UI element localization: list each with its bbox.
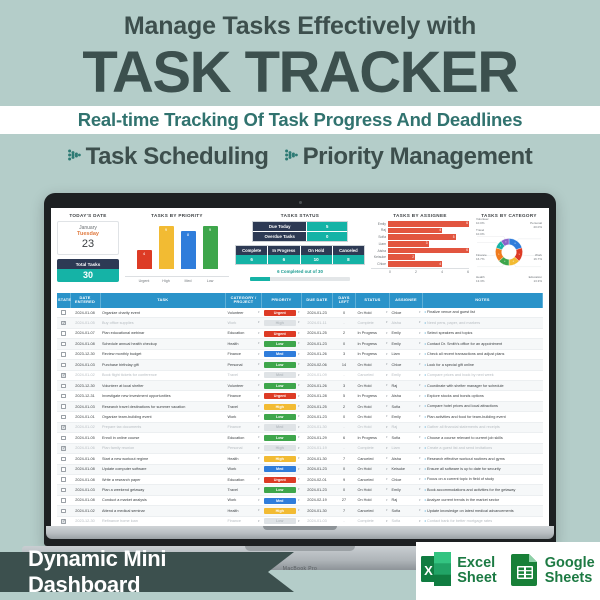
cell-assignee[interactable]: Liam▾: [390, 349, 423, 359]
cell-status[interactable]: On Hold▾: [356, 422, 390, 432]
cell-state[interactable]: [57, 506, 70, 516]
table-header-cell[interactable]: NOTES: [423, 293, 543, 308]
cell-status[interactable]: Canceled▾: [356, 474, 390, 484]
cell-status[interactable]: In Progress▾: [356, 339, 390, 349]
state-checkbox[interactable]: [61, 321, 66, 326]
table-header-cell[interactable]: STATE: [57, 293, 70, 308]
cell-assignee[interactable]: Emily▾: [390, 339, 423, 349]
cell-status[interactable]: On Hold▾: [356, 308, 390, 318]
cell-priority[interactable]: Low▾: [262, 516, 302, 526]
cell-status[interactable]: Complete▾: [356, 516, 390, 526]
cell-assignee[interactable]: Sofia▾: [390, 516, 423, 526]
category-label: Finance16.7%: [476, 254, 487, 262]
cell-category[interactable]: Finance▾: [226, 391, 262, 401]
state-checkbox[interactable]: [61, 331, 66, 336]
cell-status[interactable]: In Progress▾: [356, 433, 390, 443]
panel-tasks-status: TASKS STATUS Due Today 5 Overdue Tasks 0: [235, 213, 365, 289]
chevron-down-icon[interactable]: ▾: [386, 509, 388, 512]
state-checkbox[interactable]: [61, 467, 66, 472]
cell-category[interactable]: Education▾: [226, 474, 262, 484]
table-row[interactable]: 2024-01-02Attend a medical seminarHealth…: [57, 506, 543, 516]
cell-status[interactable]: On Hold▾: [356, 360, 390, 370]
cell-category[interactable]: Health▾: [226, 454, 262, 464]
cell-category[interactable]: Travel▾: [226, 485, 262, 495]
assignee-bar-label: Liam: [372, 242, 388, 246]
cell-assignee[interactable]: Aisha▾: [390, 391, 423, 401]
cell-state[interactable]: [57, 328, 70, 338]
chevron-down-icon[interactable]: ▾: [419, 520, 421, 523]
cell-state[interactable]: [57, 308, 70, 318]
table-row[interactable]: 2024-01-06Start a new workout regimeHeal…: [57, 454, 543, 464]
cell-status[interactable]: Canceled▾: [356, 454, 390, 464]
chevron-down-icon[interactable]: ▾: [298, 363, 300, 366]
cell-notes: • Focus on a current topic in field of s…: [423, 474, 543, 484]
cell-priority[interactable]: Low▾: [262, 381, 302, 391]
cell-state[interactable]: [57, 516, 70, 526]
chevron-down-icon[interactable]: ▾: [258, 509, 260, 512]
chevron-down-icon[interactable]: ▾: [419, 509, 421, 512]
chevron-down-icon[interactable]: ▾: [419, 426, 421, 429]
cell-state[interactable]: [57, 391, 70, 401]
cell-category[interactable]: Volunteer▾: [226, 381, 262, 391]
panel-tasks-by-priority: TASKS BY PRIORITY 4989 UrgentHighMedLow: [125, 213, 229, 289]
chevron-down-icon[interactable]: ▾: [419, 321, 421, 324]
chevron-down-icon[interactable]: ▾: [258, 447, 260, 450]
table-row[interactable]: 2024-01-05Buy office suppliesWork▾High▾2…: [57, 318, 543, 328]
chevron-down-icon[interactable]: ▾: [298, 384, 300, 387]
chevron-down-icon[interactable]: ▾: [298, 405, 300, 408]
chevron-down-icon[interactable]: ▾: [298, 353, 300, 356]
cell-state[interactable]: [57, 370, 70, 380]
cell-status[interactable]: Canceled▾: [356, 506, 390, 516]
priority-badge: High: [264, 404, 296, 410]
table-row[interactable]: 2024-01-08Update computer softwareWork▾M…: [57, 464, 543, 474]
state-checkbox[interactable]: [61, 373, 66, 378]
state-checkbox[interactable]: [61, 363, 66, 368]
cell-priority[interactable]: Low▾: [262, 339, 302, 349]
chevron-down-icon[interactable]: ▾: [298, 395, 300, 398]
table-header-cell[interactable]: STATUS: [356, 293, 390, 308]
cell-priority[interactable]: Urgent▾: [262, 391, 302, 401]
cell-priority[interactable]: Low▾: [262, 412, 302, 422]
table-header-cell[interactable]: ASSIGNEE: [390, 293, 423, 308]
chevron-down-icon[interactable]: ▾: [386, 384, 388, 387]
category-value: Health: [228, 457, 239, 461]
cell-assignee[interactable]: Emily▾: [390, 328, 423, 338]
chevron-down-icon[interactable]: ▾: [298, 478, 300, 481]
state-checkbox[interactable]: [61, 394, 66, 399]
cell-state[interactable]: [57, 422, 70, 432]
chevron-down-icon[interactable]: ▾: [258, 499, 260, 502]
table-header-cell[interactable]: PRIORITY: [262, 293, 302, 308]
cell-due-date: 2024-01-26: [302, 381, 333, 391]
cell-assignee[interactable]: Sofia▾: [390, 401, 423, 411]
state-checkbox[interactable]: [61, 436, 66, 441]
cell-priority[interactable]: Urgent▾: [262, 308, 302, 318]
table-row[interactable]: 2024-01-05Enroll in online courseEducati…: [57, 433, 543, 443]
table-header-cell[interactable]: TASK: [100, 293, 226, 308]
status-value: In Progress: [358, 342, 377, 346]
bullet-icon: •: [425, 466, 426, 471]
chevron-down-icon[interactable]: ▾: [298, 311, 300, 314]
chevron-down-icon[interactable]: ▾: [386, 457, 388, 460]
cell-priority[interactable]: High▾: [262, 318, 302, 328]
cell-date-entered: 2024-01-06: [70, 454, 100, 464]
chevron-down-icon[interactable]: ▾: [386, 311, 388, 314]
chevron-down-icon[interactable]: ▾: [386, 468, 388, 471]
cell-priority[interactable]: Urgent▾: [262, 328, 302, 338]
cell-state[interactable]: [57, 485, 70, 495]
cell-category[interactable]: Work▾: [226, 318, 262, 328]
state-checkbox[interactable]: [61, 352, 66, 357]
assignee-bar-value: 2: [412, 255, 414, 259]
cell-category[interactable]: Work▾: [226, 412, 262, 422]
chevron-down-icon[interactable]: ▾: [298, 468, 300, 471]
chevron-down-icon[interactable]: ▾: [258, 363, 260, 366]
state-checkbox[interactable]: [61, 519, 66, 524]
cell-assignee[interactable]: Emily▾: [390, 370, 423, 380]
date-card: January Tuesday 23: [57, 221, 119, 255]
state-checkbox[interactable]: [61, 509, 66, 514]
chevron-down-icon[interactable]: ▾: [386, 342, 388, 345]
chevron-down-icon[interactable]: ▾: [258, 332, 260, 335]
cell-status[interactable]: On Hold▾: [356, 412, 390, 422]
chevron-down-icon[interactable]: ▾: [386, 363, 388, 366]
table-row[interactable]: 2024-01-03Purchase birthday giftPersonal…: [57, 360, 543, 370]
state-checkbox[interactable]: [61, 477, 66, 482]
table-row[interactable]: 2024-01-08Conduct a market analysisWork▾…: [57, 495, 543, 505]
cell-days-left: 9: [333, 474, 356, 484]
chevron-down-icon[interactable]: ▾: [419, 395, 421, 398]
cell-due-date: 2024-01-25: [302, 328, 333, 338]
state-checkbox[interactable]: [61, 384, 66, 389]
table-header-cell[interactable]: DATE ENTERED: [70, 293, 100, 308]
cell-days-left: 7: [333, 454, 356, 464]
cell-assignee[interactable]: Sofia▾: [390, 506, 423, 516]
chevron-down-icon[interactable]: ▾: [386, 405, 388, 408]
category-label: Travel10.0%: [476, 229, 485, 237]
chevron-down-icon[interactable]: ▾: [258, 426, 260, 429]
chevron-down-icon[interactable]: ▾: [419, 415, 421, 418]
laptop-lid: TODAY'S DATE January Tuesday 23 Total Ta…: [44, 193, 556, 546]
chevron-down-icon[interactable]: ▾: [419, 311, 421, 314]
cell-priority[interactable]: High▾: [262, 506, 302, 516]
chevron-down-icon[interactable]: ▾: [298, 426, 300, 429]
cell-priority[interactable]: Med▾: [262, 422, 302, 432]
priority-badge: Med: [264, 424, 296, 430]
chevron-down-icon[interactable]: ▾: [419, 468, 421, 471]
cell-state[interactable]: [57, 443, 70, 453]
cell-state[interactable]: [57, 381, 70, 391]
cell-priority[interactable]: Low▾: [262, 360, 302, 370]
cell-assignee[interactable]: Chloe▾: [390, 308, 423, 318]
chevron-down-icon[interactable]: ▾: [258, 321, 260, 324]
chevron-down-icon[interactable]: ▾: [298, 332, 300, 335]
state-checkbox[interactable]: [61, 498, 66, 503]
cell-assignee[interactable]: Aisha▾: [390, 318, 423, 328]
chevron-down-icon[interactable]: ▾: [419, 353, 421, 356]
table-row[interactable]: 2023-12-30Volunteer at local shelterVolu…: [57, 381, 543, 391]
table-header-cell[interactable]: DUE DATE: [302, 293, 333, 308]
cell-priority[interactable]: Low▾: [262, 433, 302, 443]
state-checkbox[interactable]: [61, 415, 66, 420]
cell-category[interactable]: Health▾: [226, 339, 262, 349]
chevron-down-icon[interactable]: ▾: [419, 384, 421, 387]
table-row[interactable]: 2024-01-06Plan family reunionPersonal▾Hi…: [57, 443, 543, 453]
chevron-down-icon[interactable]: ▾: [419, 488, 421, 491]
chevron-down-icon[interactable]: ▾: [298, 447, 300, 450]
assignee-value: Raj: [392, 425, 398, 429]
cell-state[interactable]: [57, 339, 70, 349]
cell-category[interactable]: Work▾: [226, 495, 262, 505]
cell-assignee[interactable]: Aisha▾: [390, 454, 423, 464]
cell-task: Volunteer at local shelter: [100, 381, 226, 391]
chevron-down-icon[interactable]: ▾: [298, 321, 300, 324]
cell-days-left: 0: [333, 464, 356, 474]
cell-due-date: 2024-01-23: [302, 308, 333, 318]
cell-days-left: 2: [333, 401, 356, 411]
cell-category[interactable]: Travel▾: [226, 370, 262, 380]
cell-status[interactable]: In Progress▾: [356, 391, 390, 401]
cell-priority[interactable]: High▾: [262, 454, 302, 464]
cell-assignee[interactable]: Sofia▾: [390, 433, 423, 443]
cell-state[interactable]: [57, 318, 70, 328]
chevron-down-icon[interactable]: ▾: [258, 353, 260, 356]
cell-category[interactable]: Finance▾: [226, 422, 262, 432]
chevron-down-icon[interactable]: ▾: [258, 520, 260, 523]
bullet-icon: •: [425, 435, 426, 440]
cell-state[interactable]: [57, 412, 70, 422]
cell-state[interactable]: [57, 464, 70, 474]
chevron-down-icon[interactable]: ▾: [386, 332, 388, 335]
chevron-down-icon[interactable]: ▾: [298, 342, 300, 345]
bullet-icon: •: [425, 351, 426, 356]
chevron-down-icon[interactable]: ▾: [419, 363, 421, 366]
chevron-down-icon[interactable]: ▾: [419, 405, 421, 408]
table-row[interactable]: 2023-12-31Investigate new investment opp…: [57, 391, 543, 401]
cell-assignee[interactable]: Raj▾: [390, 422, 423, 432]
chevron-down-icon[interactable]: ▾: [258, 395, 260, 398]
state-checkbox[interactable]: [61, 404, 66, 409]
chevron-down-icon[interactable]: ▾: [386, 447, 388, 450]
table-row[interactable]: 2024-01-02Prepare tax documentsFinance▾M…: [57, 422, 543, 432]
chevron-down-icon[interactable]: ▾: [386, 415, 388, 418]
chevron-down-icon[interactable]: ▾: [386, 426, 388, 429]
cell-category[interactable]: Education▾: [226, 328, 262, 338]
assignee-bar-row: Raj4: [372, 228, 469, 234]
assignee-value: Sofia: [392, 519, 401, 523]
state-checkbox[interactable]: [61, 342, 66, 347]
chevron-down-icon[interactable]: ▾: [258, 457, 260, 460]
chevron-down-icon[interactable]: ▾: [419, 332, 421, 335]
assignee-value: Raj: [392, 384, 398, 388]
table-row[interactable]: 2024-01-01Organize team-building eventWo…: [57, 412, 543, 422]
state-checkbox[interactable]: [61, 425, 66, 430]
chevron-down-icon[interactable]: ▾: [298, 520, 300, 523]
chevron-down-icon[interactable]: ▾: [386, 478, 388, 481]
table-row[interactable]: 2024-01-02Book flight tickets for confer…: [57, 370, 543, 380]
chevron-down-icon[interactable]: ▾: [298, 509, 300, 512]
cell-state[interactable]: [57, 401, 70, 411]
cell-category[interactable]: Volunteer▾: [226, 308, 262, 318]
feature-label: Task Scheduling: [86, 143, 269, 171]
cell-status[interactable]: In Progress▾: [356, 349, 390, 359]
cell-status[interactable]: On Hold▾: [356, 401, 390, 411]
cell-priority[interactable]: Urgent▾: [262, 474, 302, 484]
chevron-down-icon[interactable]: ▾: [386, 436, 388, 439]
dashboard-panels: TODAY'S DATE January Tuesday 23 Total Ta…: [57, 213, 543, 289]
assignee-value: Emily: [392, 488, 401, 492]
cell-due-date: 2024-02-01: [302, 474, 333, 484]
cell-notes: • Update knowledge on latest medical adv…: [423, 506, 543, 516]
cell-assignee[interactable]: Raj▾: [390, 381, 423, 391]
table-header-cell[interactable]: CATEGORY / PROJECT: [226, 293, 262, 308]
chevron-down-icon[interactable]: ▾: [386, 374, 388, 377]
cell-status[interactable]: On Hold▾: [356, 464, 390, 474]
state-checkbox[interactable]: [61, 310, 66, 315]
bullet-icon: •: [425, 508, 426, 513]
cell-status[interactable]: Canceled▾: [356, 370, 390, 380]
cell-category[interactable]: Finance▾: [226, 349, 262, 359]
cell-category[interactable]: Personal▾: [226, 443, 262, 453]
chevron-down-icon[interactable]: ▾: [386, 499, 388, 502]
panel-title-tasks-by-assignee: TASKS BY ASSIGNEE: [371, 213, 469, 218]
assignee-bar: 2: [388, 254, 415, 260]
cell-task: Review monthly budget: [100, 349, 226, 359]
table-header-cell[interactable]: DAYS LEFT: [333, 293, 356, 308]
table-row[interactable]: 2024-01-03Plan a weekend getawayTravel▾L…: [57, 485, 543, 495]
cell-task: Prepare tax documents: [100, 422, 226, 432]
state-checkbox[interactable]: [61, 457, 66, 462]
cell-state[interactable]: [57, 454, 70, 464]
chevron-down-icon[interactable]: ▾: [419, 342, 421, 345]
chevron-down-icon[interactable]: ▾: [258, 384, 260, 387]
chevron-down-icon[interactable]: ▾: [386, 353, 388, 356]
laptop-mockup: TODAY'S DATE January Tuesday 23 Total Ta…: [44, 193, 556, 570]
assignee-axis-tick: 2: [415, 270, 417, 274]
category-value: Education: [228, 331, 245, 335]
cell-task: Plan educational webinar: [100, 328, 226, 338]
chevron-down-icon[interactable]: ▾: [386, 520, 388, 523]
chevron-down-icon[interactable]: ▾: [419, 478, 421, 481]
cell-assignee[interactable]: Keisuke▾: [390, 464, 423, 474]
cell-status[interactable]: On Hold▾: [356, 485, 390, 495]
table-row[interactable]: 2024-01-08Write a research paperEducatio…: [57, 474, 543, 484]
table-row[interactable]: 2023-12-30Refinance home loanFinance▾Low…: [57, 516, 543, 526]
priority-bar: 4: [137, 221, 152, 269]
chevron-down-icon[interactable]: ▾: [419, 436, 421, 439]
cell-category[interactable]: Work▾: [226, 464, 262, 474]
cell-category[interactable]: Education▾: [226, 433, 262, 443]
cell-category[interactable]: Personal▾: [226, 360, 262, 370]
cell-due-date: 2024-01-23: [302, 464, 333, 474]
cell-category[interactable]: Finance▾: [226, 516, 262, 526]
cell-state[interactable]: [57, 360, 70, 370]
assignee-value: Emily: [392, 331, 401, 335]
chevron-down-icon[interactable]: ▾: [386, 321, 388, 324]
cell-assignee[interactable]: Chloe▾: [390, 474, 423, 484]
cell-state[interactable]: [57, 495, 70, 505]
table-row[interactable]: 2024-01-03Research travel destinations f…: [57, 401, 543, 411]
cell-status[interactable]: In Progress▾: [356, 328, 390, 338]
chevron-down-icon[interactable]: ▾: [386, 395, 388, 398]
cell-days-left: 0: [333, 412, 356, 422]
cell-priority[interactable]: Med▾: [262, 464, 302, 474]
cell-state[interactable]: [57, 349, 70, 359]
state-checkbox[interactable]: [61, 488, 66, 493]
cell-assignee[interactable]: Emily▾: [390, 412, 423, 422]
cell-status[interactable]: Complete▾: [356, 443, 390, 453]
cell-priority[interactable]: Low▾: [262, 485, 302, 495]
cell-assignee[interactable]: Raj▾: [390, 495, 423, 505]
chevron-down-icon[interactable]: ▾: [298, 488, 300, 491]
chevron-down-icon[interactable]: ▾: [258, 311, 260, 314]
chevron-down-icon[interactable]: ▾: [258, 405, 260, 408]
chevron-down-icon[interactable]: ▾: [298, 374, 300, 377]
cell-assignee[interactable]: Liam▾: [390, 443, 423, 453]
chevron-down-icon[interactable]: ▾: [386, 488, 388, 491]
assignee-axis-tick: 4: [441, 270, 443, 274]
chevron-down-icon[interactable]: ▾: [298, 415, 300, 418]
table-row[interactable]: 2024-01-07Plan educational webinarEducat…: [57, 328, 543, 338]
cell-date-entered: 2024-01-07: [70, 328, 100, 338]
panel-tasks-by-category: TASKS BY CATEGORY 6544533 Personal20.0%W…: [475, 213, 543, 289]
chevron-down-icon[interactable]: ▾: [258, 342, 260, 345]
cell-priority[interactable]: High▾: [262, 443, 302, 453]
cell-priority[interactable]: Med▾: [262, 495, 302, 505]
cell-assignee[interactable]: Chloe▾: [390, 360, 423, 370]
cell-status[interactable]: Complete▾: [356, 318, 390, 328]
chevron-down-icon[interactable]: ▾: [258, 436, 260, 439]
chevron-down-icon[interactable]: ▾: [258, 488, 260, 491]
priority-badge: Med: [264, 372, 296, 378]
chevron-down-icon[interactable]: ▾: [298, 436, 300, 439]
cell-priority[interactable]: Med▾: [262, 349, 302, 359]
cell-state[interactable]: [57, 433, 70, 443]
priority-bar: 9: [203, 221, 218, 269]
table-row[interactable]: 2023-12-30Review monthly budgetFinance▾M…: [57, 349, 543, 359]
chevron-down-icon[interactable]: ▾: [258, 468, 260, 471]
hero-subtitle-band: Real-time Tracking Of Task Progress And …: [0, 106, 600, 134]
chevron-down-icon[interactable]: ▾: [419, 499, 421, 502]
table-row[interactable]: 2024-01-08Organize charity eventVoluntee…: [57, 308, 543, 318]
cell-priority[interactable]: Med▾: [262, 370, 302, 380]
cell-priority[interactable]: High▾: [262, 401, 302, 411]
chevron-down-icon[interactable]: ▾: [298, 499, 300, 502]
chevron-down-icon[interactable]: ▾: [258, 374, 260, 377]
chevron-down-icon[interactable]: ▾: [419, 447, 421, 450]
cell-assignee[interactable]: Emily▾: [390, 485, 423, 495]
cell-status[interactable]: On Hold▾: [356, 495, 390, 505]
table-row[interactable]: 2024-01-08Schedule annual health checkup…: [57, 339, 543, 349]
cell-status[interactable]: On Hold▾: [356, 381, 390, 391]
status-column: Complete6: [236, 246, 268, 264]
chevron-down-icon[interactable]: ▾: [419, 374, 421, 377]
chevron-down-icon[interactable]: ▾: [419, 457, 421, 460]
chevron-down-icon[interactable]: ▾: [258, 415, 260, 418]
state-checkbox[interactable]: [61, 446, 66, 451]
category-value: Finance: [228, 519, 242, 523]
cell-state[interactable]: [57, 474, 70, 484]
chevron-down-icon[interactable]: ▾: [258, 478, 260, 481]
cell-category[interactable]: Health▾: [226, 506, 262, 516]
cell-due-date: 2024-01-11: [302, 318, 333, 328]
category-value: Work: [228, 321, 237, 325]
bullet-icon: •: [425, 320, 426, 325]
chevron-down-icon[interactable]: ▾: [298, 457, 300, 460]
status-value: Complete: [358, 519, 374, 523]
cell-category[interactable]: Travel▾: [226, 401, 262, 411]
